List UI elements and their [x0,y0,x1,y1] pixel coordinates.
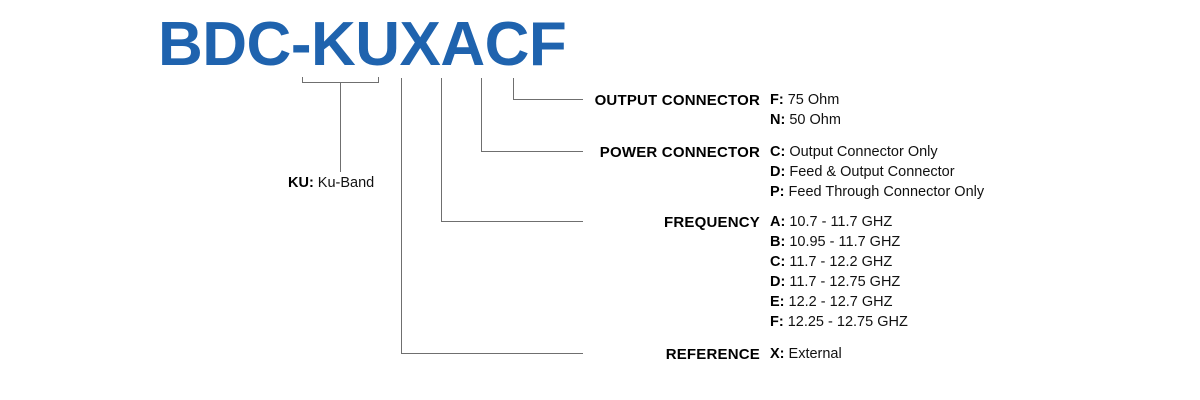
option-code: X: [770,346,785,362]
option-code: P: [770,184,785,200]
option-text: 11.7 - 12.2 GHZ [785,254,892,270]
value-row: F: 12.25 - 12.75 GHZ [770,312,1190,332]
option-code: B: [770,234,785,250]
value-row: E: 12.2 - 12.7 GHZ [770,292,1190,312]
option-code: C: [770,254,785,270]
value-row: F: 75 Ohm [770,90,1190,110]
option-code: C: [770,144,785,160]
option-code: E: [770,294,785,310]
value-row: B: 10.95 - 11.7 GHZ [770,232,1190,252]
option-code: F: [770,92,784,108]
option-text: 10.95 - 11.7 GHZ [785,234,900,250]
option-text: Feed & Output Connector [785,164,954,180]
value-row: P: Feed Through Connector Only [770,182,1190,202]
category-label-output-connector: OUTPUT CONNECTOR [392,92,760,109]
option-text: Feed Through Connector Only [785,184,985,200]
value-group-reference: X: External [770,344,1190,364]
value-row: D: Feed & Output Connector [770,162,1190,182]
ku-band-code: KU: [288,175,314,191]
option-code: F: [770,314,784,330]
category-label-power-connector: POWER CONNECTOR [392,144,760,161]
value-row: D: 11.7 - 12.75 GHZ [770,272,1190,292]
option-code: A: [770,214,785,230]
option-text: External [785,346,842,362]
value-group-frequency: A: 10.7 - 11.7 GHZ B: 10.95 - 11.7 GHZ C… [770,212,1190,332]
option-code: D: [770,274,785,290]
value-row: N: 50 Ohm [770,110,1190,130]
value-row: A: 10.7 - 11.7 GHZ [770,212,1190,232]
ku-band-description: Ku-Band [314,175,374,191]
value-row: X: External [770,344,1190,364]
category-label-frequency: FREQUENCY [392,214,760,231]
option-text: 50 Ohm [785,112,841,128]
ku-band-caption: KU: Ku-Band [288,175,374,191]
ku-bracket [303,77,379,83]
option-code: N: [770,112,785,128]
option-text: Output Connector Only [785,144,937,160]
option-text: 75 Ohm [784,92,840,108]
part-number-breakdown-diagram: BDC-KUXACF KU: Ku-Band OUTPUT CONNECTOR … [0,0,1200,400]
value-row: C: Output Connector Only [770,142,1190,162]
option-text: 10.7 - 11.7 GHZ [785,214,892,230]
value-row: C: 11.7 - 12.2 GHZ [770,252,1190,272]
value-group-output-connector: F: 75 Ohm N: 50 Ohm [770,90,1190,130]
option-code: D: [770,164,785,180]
leader-power-connector [482,78,584,152]
option-text: 11.7 - 12.75 GHZ [785,274,900,290]
option-text: 12.25 - 12.75 GHZ [784,314,908,330]
category-label-reference: REFERENCE [392,346,760,363]
option-text: 12.2 - 12.7 GHZ [785,294,893,310]
value-group-power-connector: C: Output Connector Only D: Feed & Outpu… [770,142,1190,202]
